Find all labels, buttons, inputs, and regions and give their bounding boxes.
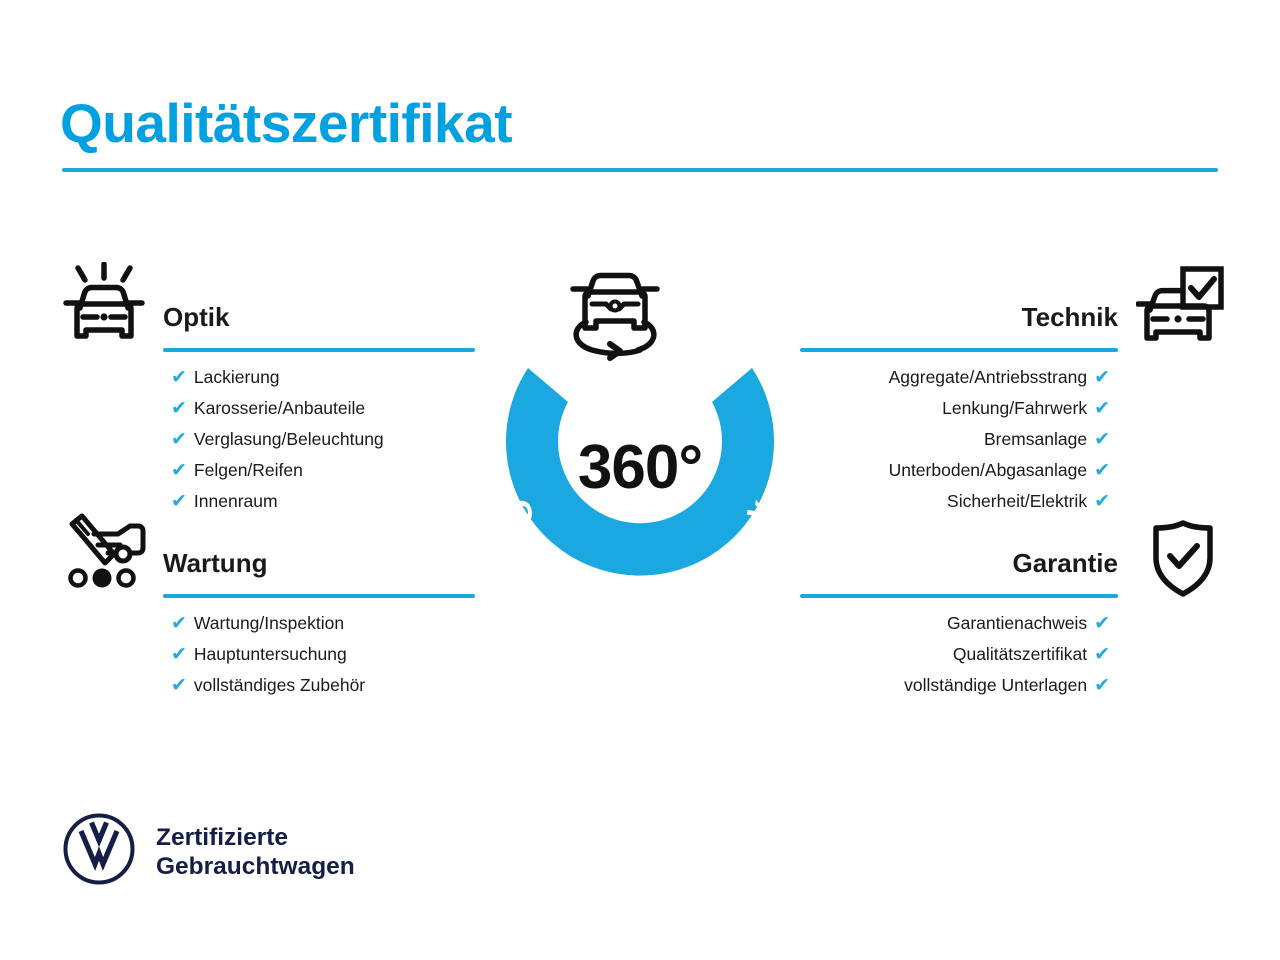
list-item: ✔Karosserie/Anbauteile [171,393,475,424]
car-checkbox-icon [1136,266,1226,357]
list-item: Lenkung/Fahrwerk✔ [800,393,1110,424]
list-item: Qualitätszertifikat✔ [800,639,1110,670]
section-title-optik: Optik [163,300,475,334]
section-title-garantie: Garantie [800,546,1118,580]
gebrauchtwagen-check-badge: Gebrauchtwagen-Check 360° [462,250,818,640]
list-item-label: Felgen/Reifen [194,455,303,485]
car-rotate-icon [573,276,657,359]
section-divider-technik [800,348,1118,352]
list-item: Aggregate/Antriebsstrang✔ [800,362,1110,393]
list-item-label: Wartung/Inspektion [194,608,344,638]
header-divider [62,168,1218,172]
vw-logo-line2: Gebrauchtwagen [156,853,355,880]
check-icon: ✔ [1094,609,1110,639]
check-icon: ✔ [171,671,187,701]
check-list-wartung: ✔Wartung/Inspektion ✔Hauptuntersuchung ✔… [171,608,475,701]
check-icon: ✔ [171,456,187,486]
check-icon: ✔ [171,609,187,639]
check-icon: ✔ [1094,394,1110,424]
vw-logo-label: ZertifizierteGebrauchtwagen [156,823,355,881]
list-item: Bremsanlage✔ [800,424,1110,455]
check-icon: ✔ [1094,425,1110,455]
check-icon: ✔ [1094,640,1110,670]
section-divider-optik [163,348,475,352]
list-item-label: Lenkung/Fahrwerk [942,393,1087,423]
section-title-technik: Technik [800,300,1118,334]
check-icon: ✔ [1094,456,1110,486]
badge-value: 360° [462,432,818,503]
list-item: ✔Hauptuntersuchung [171,639,475,670]
list-item: ✔Wartung/Inspektion [171,608,475,639]
section-optik: Optik ✔Lackierung ✔Karosserie/Anbauteile… [163,300,475,517]
list-item: ✔Verglasung/Beleuchtung [171,424,475,455]
vw-logo-line1: Zertifizierte [156,824,288,851]
list-item-label: vollständige Unterlagen [904,670,1087,700]
section-divider-wartung [163,594,475,598]
section-wartung: Wartung ✔Wartung/Inspektion ✔Hauptunters… [163,546,475,701]
list-item-label: Aggregate/Antriebsstrang [889,362,1087,392]
section-header-technik: Technik [800,300,1118,352]
check-list-garantie: Garantienachweis✔ Qualitätszertifikat✔ v… [800,608,1110,701]
check-icon: ✔ [171,487,187,517]
check-list-optik: ✔Lackierung ✔Karosserie/Anbauteile ✔Verg… [171,362,475,517]
check-icon: ✔ [1094,363,1110,393]
list-item-label: Unterboden/Abgasanlage [889,455,1088,485]
shield-check-icon [1148,518,1218,603]
page-title: Qualitätszertifikat [60,93,512,154]
section-header-optik: Optik [163,300,475,352]
list-item-label: Verglasung/Beleuchtung [194,424,384,454]
list-item-label: Hauptuntersuchung [194,639,347,669]
list-item-label: Bremsanlage [984,424,1087,454]
section-header-garantie: Garantie [800,546,1118,598]
car-service-pencil-icon [60,512,148,597]
list-item-label: vollständiges Zubehör [194,670,365,700]
list-item-label: Innenraum [194,486,278,516]
list-item: Sicherheit/Elektrik✔ [800,486,1110,517]
section-garantie: Garantie Garantienachweis✔ Qualitätszert… [800,546,1118,701]
vw-logo-icon [62,812,136,891]
list-item-label: Karosserie/Anbauteile [194,393,365,423]
list-item-label: Garantienachweis [947,608,1087,638]
list-item: ✔Lackierung [171,362,475,393]
check-icon: ✔ [1094,671,1110,701]
list-item: Unterboden/Abgasanlage✔ [800,455,1110,486]
list-item-label: Sicherheit/Elektrik [947,486,1087,516]
check-icon: ✔ [171,425,187,455]
section-divider-garantie [800,594,1118,598]
list-item: Garantienachweis✔ [800,608,1110,639]
list-item: vollständige Unterlagen✔ [800,670,1110,701]
check-icon: ✔ [171,363,187,393]
section-header-wartung: Wartung [163,546,475,598]
list-item: ✔Felgen/Reifen [171,455,475,486]
check-icon: ✔ [171,640,187,670]
check-list-technik: Aggregate/Antriebsstrang✔ Lenkung/Fahrwe… [800,362,1110,517]
list-item-label: Lackierung [194,362,280,392]
car-front-shine-icon [60,262,148,357]
vw-certified-logo: ZertifizierteGebrauchtwagen [62,812,355,891]
check-icon: ✔ [171,394,187,424]
check-icon: ✔ [1094,487,1110,517]
section-technik: Technik Aggregate/Antriebsstrang✔ Lenkun… [800,300,1118,517]
list-item-label: Qualitätszertifikat [953,639,1087,669]
list-item: ✔vollständiges Zubehör [171,670,475,701]
section-title-wartung: Wartung [163,546,475,580]
list-item: ✔Innenraum [171,486,475,517]
